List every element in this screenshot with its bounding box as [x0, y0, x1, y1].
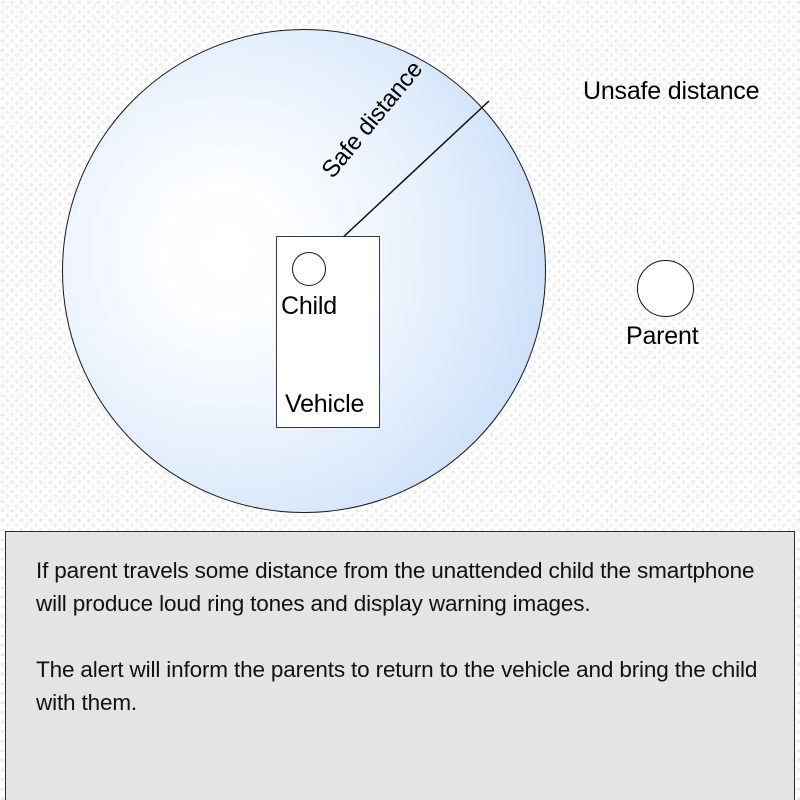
child-label: Child [281, 292, 337, 321]
parent-marker-icon [637, 260, 694, 317]
parent-label: Parent [626, 322, 698, 351]
caption-box: If parent travels some distance from the… [5, 531, 795, 800]
diagram-canvas: Safe distance Unsafe distance Child Vehi… [0, 0, 800, 800]
caption-paragraph-1: If parent travels some distance from the… [36, 554, 764, 620]
caption-paragraph-2: The alert will inform the parents to ret… [36, 653, 764, 719]
child-marker-icon [292, 252, 326, 286]
unsafe-distance-label: Unsafe distance [583, 77, 759, 106]
vehicle-label: Vehicle [285, 390, 364, 419]
caption-spacer [36, 620, 764, 653]
